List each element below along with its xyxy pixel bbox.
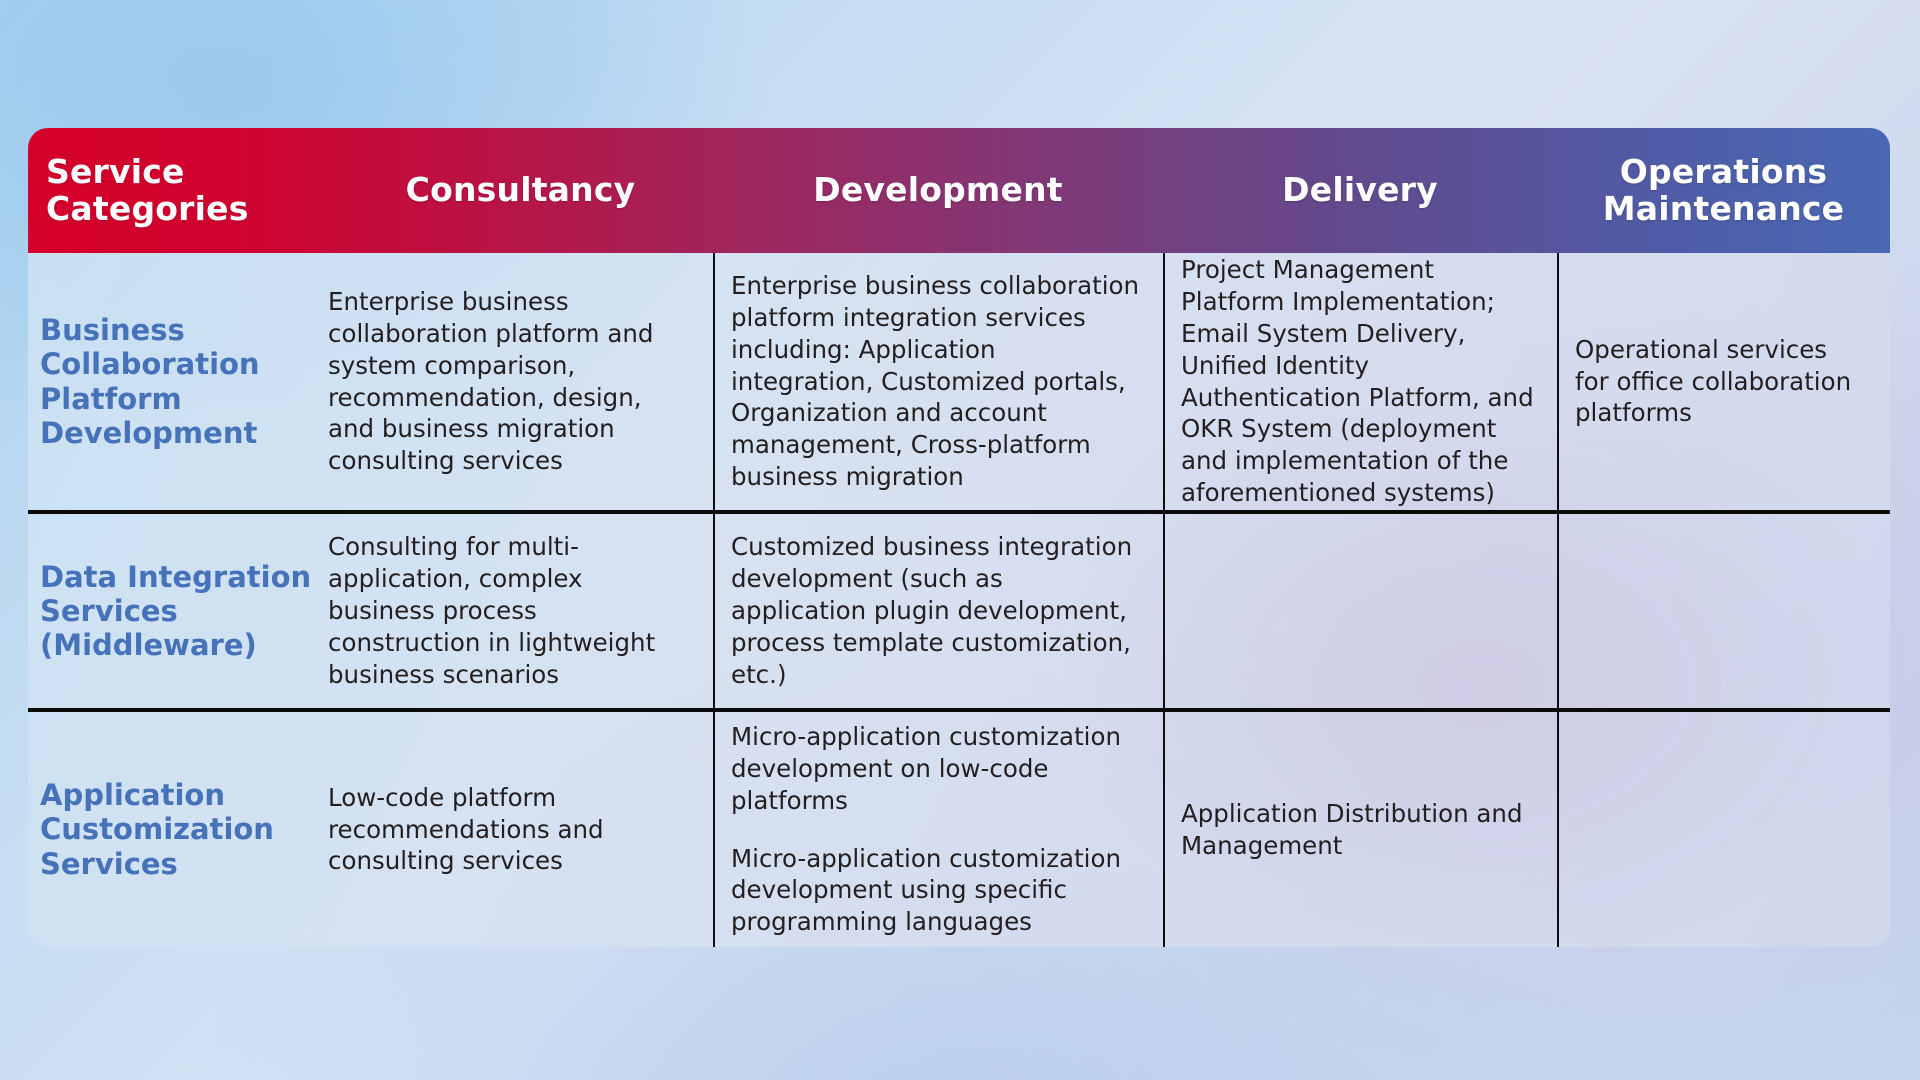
column-header-delivery: Delivery [1163,128,1557,253]
row-category-label: Application Customization Services [28,712,328,947]
column-header-label: Service Categories [46,154,249,228]
service-categories-table: Service Categories Consultancy Developme… [28,128,1890,947]
table-cell-development: Customized business integration developm… [731,514,1151,708]
cell-text-secondary: Micro-application customization developm… [731,843,1153,939]
table-cell-consultancy: Low-code platform recommendations and co… [328,712,700,947]
cell-text: Application Distribution and Management [1181,798,1539,862]
column-header-development: Development [713,128,1163,253]
table-cell-consultancy: Enterprise business collaboration platfo… [328,253,700,510]
cell-text: Consulting for multi-application, comple… [328,531,686,690]
column-header-label: Development [813,172,1063,209]
column-header-service-categories: Service Categories [28,128,328,253]
table-cell-operations-maintenance: Operational services for office collabor… [1575,253,1875,510]
row-category-label: Data Integration Services (Middleware) [28,514,328,708]
table-cell-development: Enterprise business collaboration platfo… [731,253,1151,510]
table-cell-consultancy: Consulting for multi-application, comple… [328,514,700,708]
table-cell-operations-maintenance [1575,712,1875,947]
column-divider-1 [713,253,715,947]
cell-text: Project Management Platform Implementati… [1181,254,1539,509]
table-cell-operations-maintenance [1575,514,1875,708]
table-body: Business Collaboration Platform Developm… [28,253,1890,947]
row-category-label: Business Collaboration Platform Developm… [28,253,328,510]
category-text: Application Customization Services [40,778,328,881]
cell-text: Enterprise business collaboration platfo… [328,286,686,477]
column-header-consultancy: Consultancy [328,128,713,253]
category-text: Business Collaboration Platform Developm… [40,313,328,450]
cell-text: Micro-application customization developm… [731,721,1153,817]
cell-text: Customized business integration developm… [731,531,1141,690]
table-header-row: Service Categories Consultancy Developme… [28,128,1890,253]
column-header-label: Consultancy [406,172,636,209]
table-cell-delivery [1181,514,1549,708]
cell-text: Low-code platform recommendations and co… [328,782,686,878]
column-divider-3 [1557,253,1559,947]
category-text: Data Integration Services (Middleware) [40,560,328,663]
table-cell-delivery: Application Distribution and Management [1181,712,1549,947]
column-divider-2 [1163,253,1165,947]
column-header-label: Delivery [1282,172,1438,209]
column-header-operations-maintenance: Operations Maintenance [1557,128,1890,253]
cell-text: Enterprise business collaboration platfo… [731,270,1141,493]
cell-text: Operational services for office collabor… [1575,334,1865,430]
table-cell-delivery: Project Management Platform Implementati… [1181,253,1549,510]
column-header-label: Operations Maintenance [1603,154,1844,228]
table-cell-development: Micro-application customization developm… [731,712,1159,947]
